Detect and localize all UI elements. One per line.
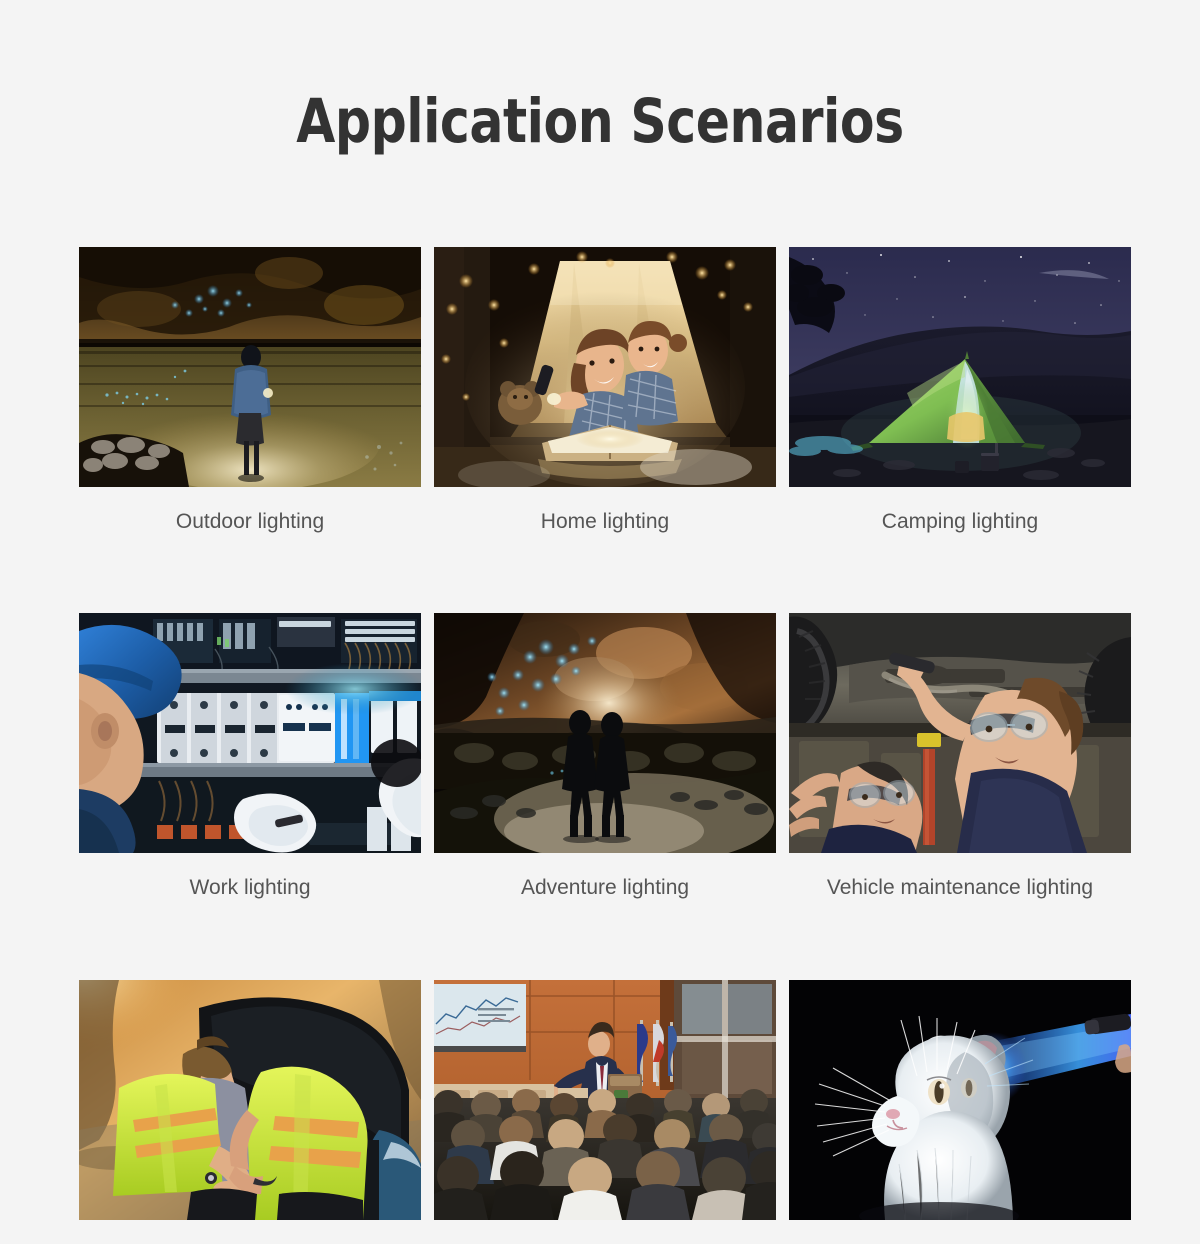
scenario-grid: Outdoor lighting <box>79 247 1131 1244</box>
scenario-image-emergency-charging-lighting[interactable] <box>79 980 421 1220</box>
scenario-card-home-lighting[interactable]: Home lighting <box>434 247 776 535</box>
page-title: Application Scenarios <box>48 88 1152 155</box>
scenario-card-vehicle-maintenance-lighting[interactable]: Vehicle maintenance lighting <box>789 613 1131 901</box>
application-scenarios-page: Application Scenarios <box>0 0 1200 1244</box>
scenario-caption: Work lighting <box>79 875 421 901</box>
scenario-card-pets-playing[interactable]: Pets playing <box>789 980 1131 1244</box>
scenario-caption: Adventure lighting <box>434 875 776 901</box>
scenario-caption: Home lighting <box>434 509 776 535</box>
scenario-image-vehicle-maintenance-lighting[interactable] <box>789 613 1131 853</box>
scenario-card-teaching-demonstration[interactable]: Teaching demonstration <box>434 980 776 1244</box>
scenario-image-work-lighting[interactable] <box>79 613 421 853</box>
scenario-image-home-lighting[interactable] <box>434 247 776 487</box>
scenario-card-work-lighting[interactable]: Work lighting <box>79 613 421 901</box>
scenario-caption: Outdoor lighting <box>79 509 421 535</box>
scenario-image-pets-playing[interactable] <box>789 980 1131 1220</box>
scenario-card-adventure-lighting[interactable]: Adventure lighting <box>434 613 776 901</box>
scenario-caption: Camping lighting <box>789 509 1131 535</box>
scenario-image-adventure-lighting[interactable] <box>434 613 776 853</box>
scenario-card-emergency-charging-lighting[interactable]: Emergency Charging lighting <box>79 980 421 1244</box>
scenario-image-camping-lighting[interactable] <box>789 247 1131 487</box>
scenario-caption: Vehicle maintenance lighting <box>789 875 1131 901</box>
scenario-image-teaching-demonstration[interactable] <box>434 980 776 1220</box>
scenario-card-camping-lighting[interactable]: Camping lighting <box>789 247 1131 535</box>
scenario-card-outdoor-lighting[interactable]: Outdoor lighting <box>79 247 421 535</box>
scenario-image-outdoor-lighting[interactable] <box>79 247 421 487</box>
